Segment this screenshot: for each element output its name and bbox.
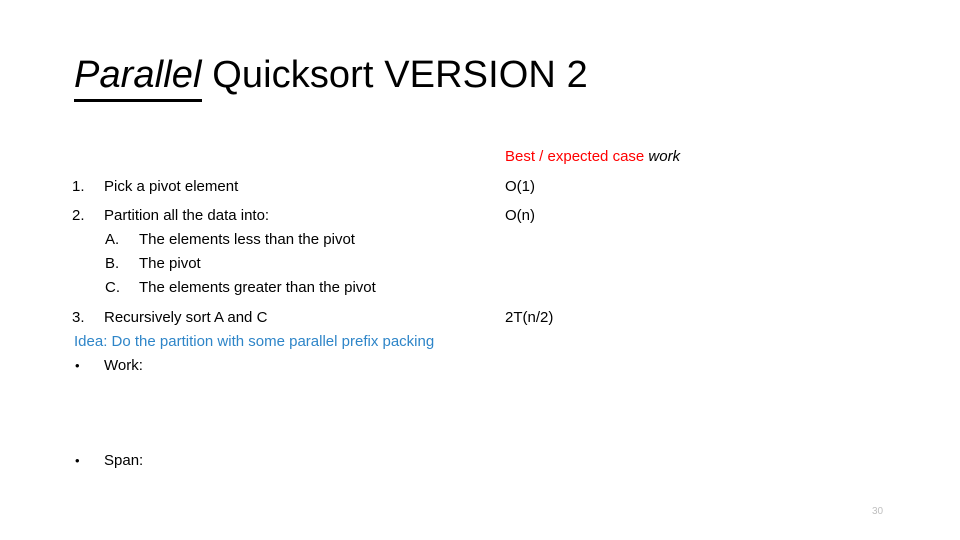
slide-title: Parallel Quicksort VERSION 2 [74,52,588,98]
list-item-label: Span: [104,450,143,472]
list-item-marker: 3. [72,307,85,329]
list-item: B. The pivot [0,253,960,275]
list-item: 2. Partition all the data into: O(n) [0,205,960,227]
list-item-cost: 2T(n/2) [505,307,553,329]
list-item-marker: 1. [72,176,85,198]
list-item-label: Pick a pivot element [104,176,238,198]
slide-title-rest: Quicksort VERSION 2 [202,54,588,96]
list-item: A. The elements less than the pivot [0,229,960,251]
list-item-label: The pivot [139,253,201,275]
list-item: • Span: [0,450,960,472]
list-item: 1. Pick a pivot element O(1) [0,176,960,198]
slide-title-emphasis: Parallel [74,54,202,102]
list-item-label: Recursively sort A and C [104,307,267,329]
page-number: 30 [872,505,883,519]
slide-canvas: Parallel Quicksort VERSION 2 Best / expe… [0,0,960,540]
list-item-cost: O(1) [505,176,535,198]
cost-column-header-red: Best / expected case [505,148,648,165]
bullet-icon: • [75,355,80,377]
list-item-label: Work: [104,355,143,377]
list-item-label: The elements less than the pivot [139,229,355,251]
list-item-label: The elements greater than the pivot [139,277,376,299]
bullet-icon: • [75,450,80,472]
cost-column-header: Best / expected case work [505,146,680,168]
idea-note: Idea: Do the partition with some paralle… [74,331,434,353]
list-item-label: Partition all the data into: [104,205,269,227]
cost-column-header-work: work [648,148,680,165]
list-item: C. The elements greater than the pivot [0,277,960,299]
list-item-marker: 2. [72,205,85,227]
list-item-cost: O(n) [505,205,535,227]
list-item-marker: A. [105,229,119,251]
list-item-marker: B. [105,253,119,275]
list-item: 3. Recursively sort A and C 2T(n/2) [0,307,960,329]
list-item: • Work: [0,355,960,377]
list-item-marker: C. [105,277,120,299]
